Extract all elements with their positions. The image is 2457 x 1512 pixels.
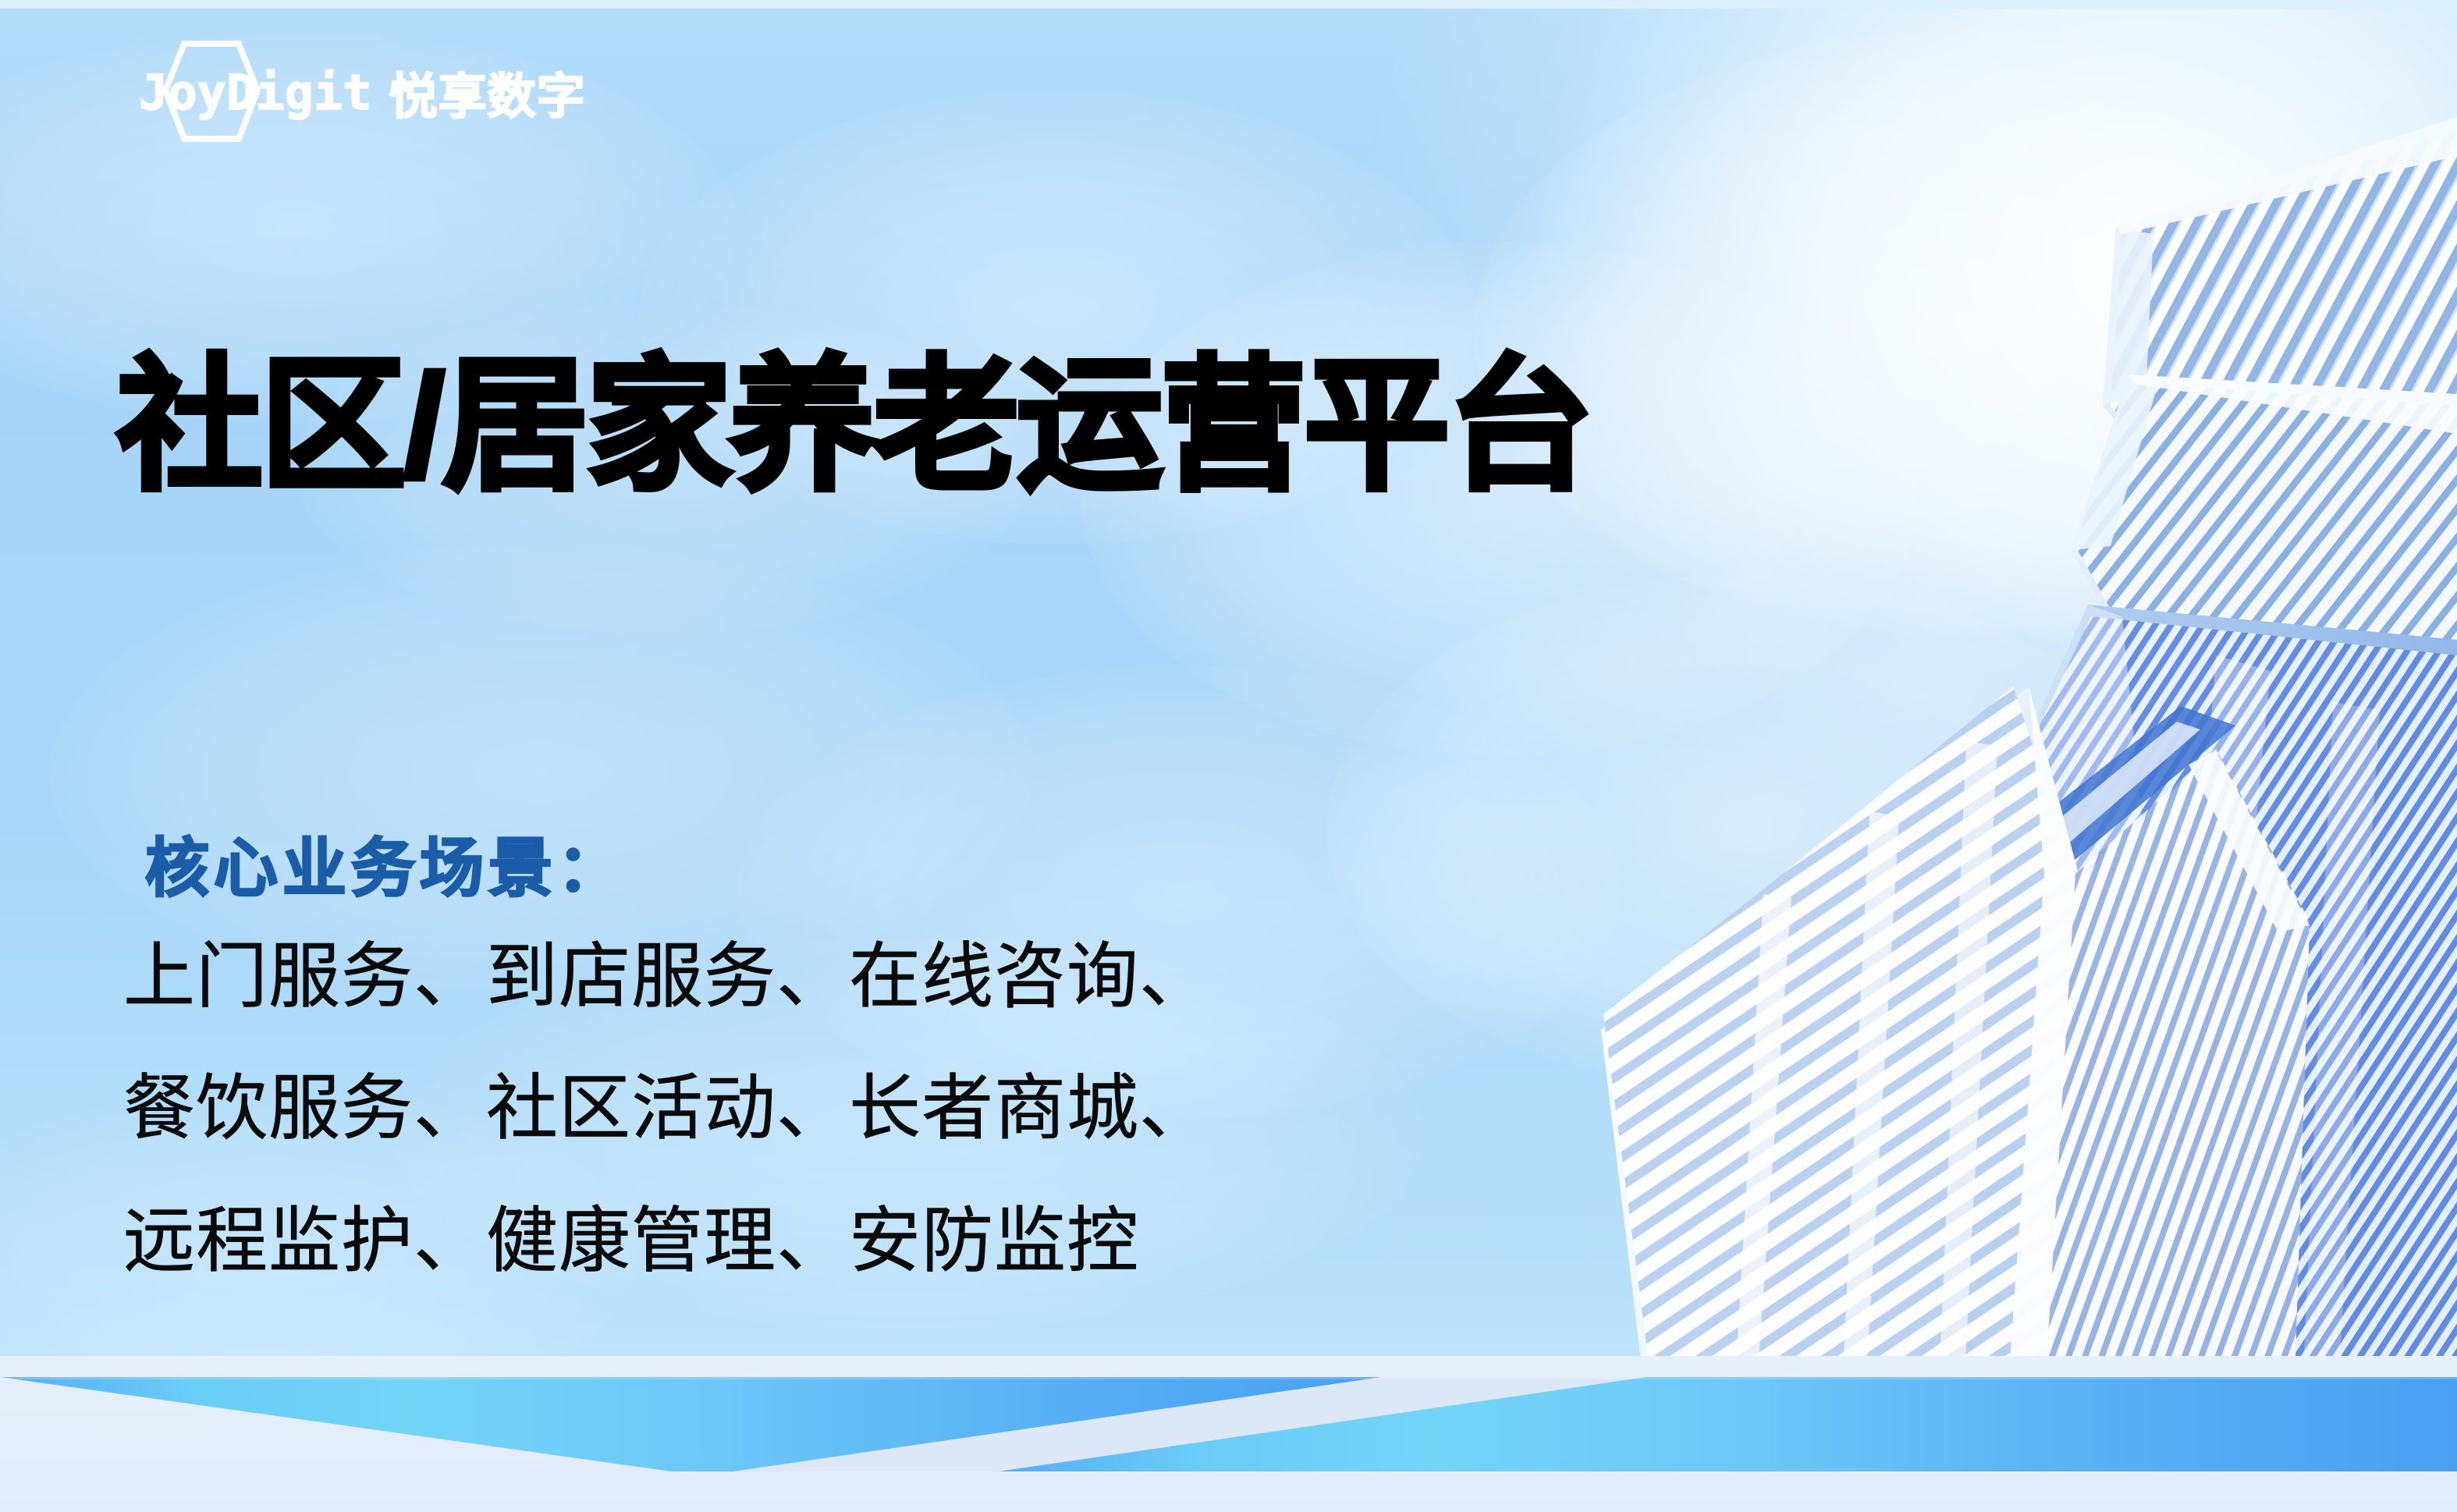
- page-title: 社区/居家养老运营平台: [117, 341, 1592, 512]
- scenario-line: 餐饮服务、社区活动、长者商城、: [123, 1043, 1606, 1175]
- slide-canvas: JoyDigit 悦享数字 社区/居家养老运营平台 核心业务场景： 上门服务、到…: [0, 0, 2457, 1512]
- bottom-diagonal-band: [0, 1356, 2457, 1512]
- scenario-line: 上门服务、到店服务、在线咨询、: [123, 911, 1606, 1043]
- brand-logo[interactable]: JoyDigit 悦享数字: [139, 30, 685, 154]
- core-scenarios-list: 上门服务、到店服务、在线咨询、 餐饮服务、社区活动、长者商城、 远程监护、健康管…: [123, 911, 1606, 1308]
- logo-cn-text: 悦享数字: [389, 57, 586, 127]
- logo-latin-text: JoyDigit: [139, 64, 372, 121]
- skyscraper-photo: [1529, 0, 2457, 1404]
- core-scenarios-heading: 核心业务场景：: [145, 816, 626, 909]
- scenario-line: 远程监护、健康管理、安防监控: [123, 1176, 1606, 1308]
